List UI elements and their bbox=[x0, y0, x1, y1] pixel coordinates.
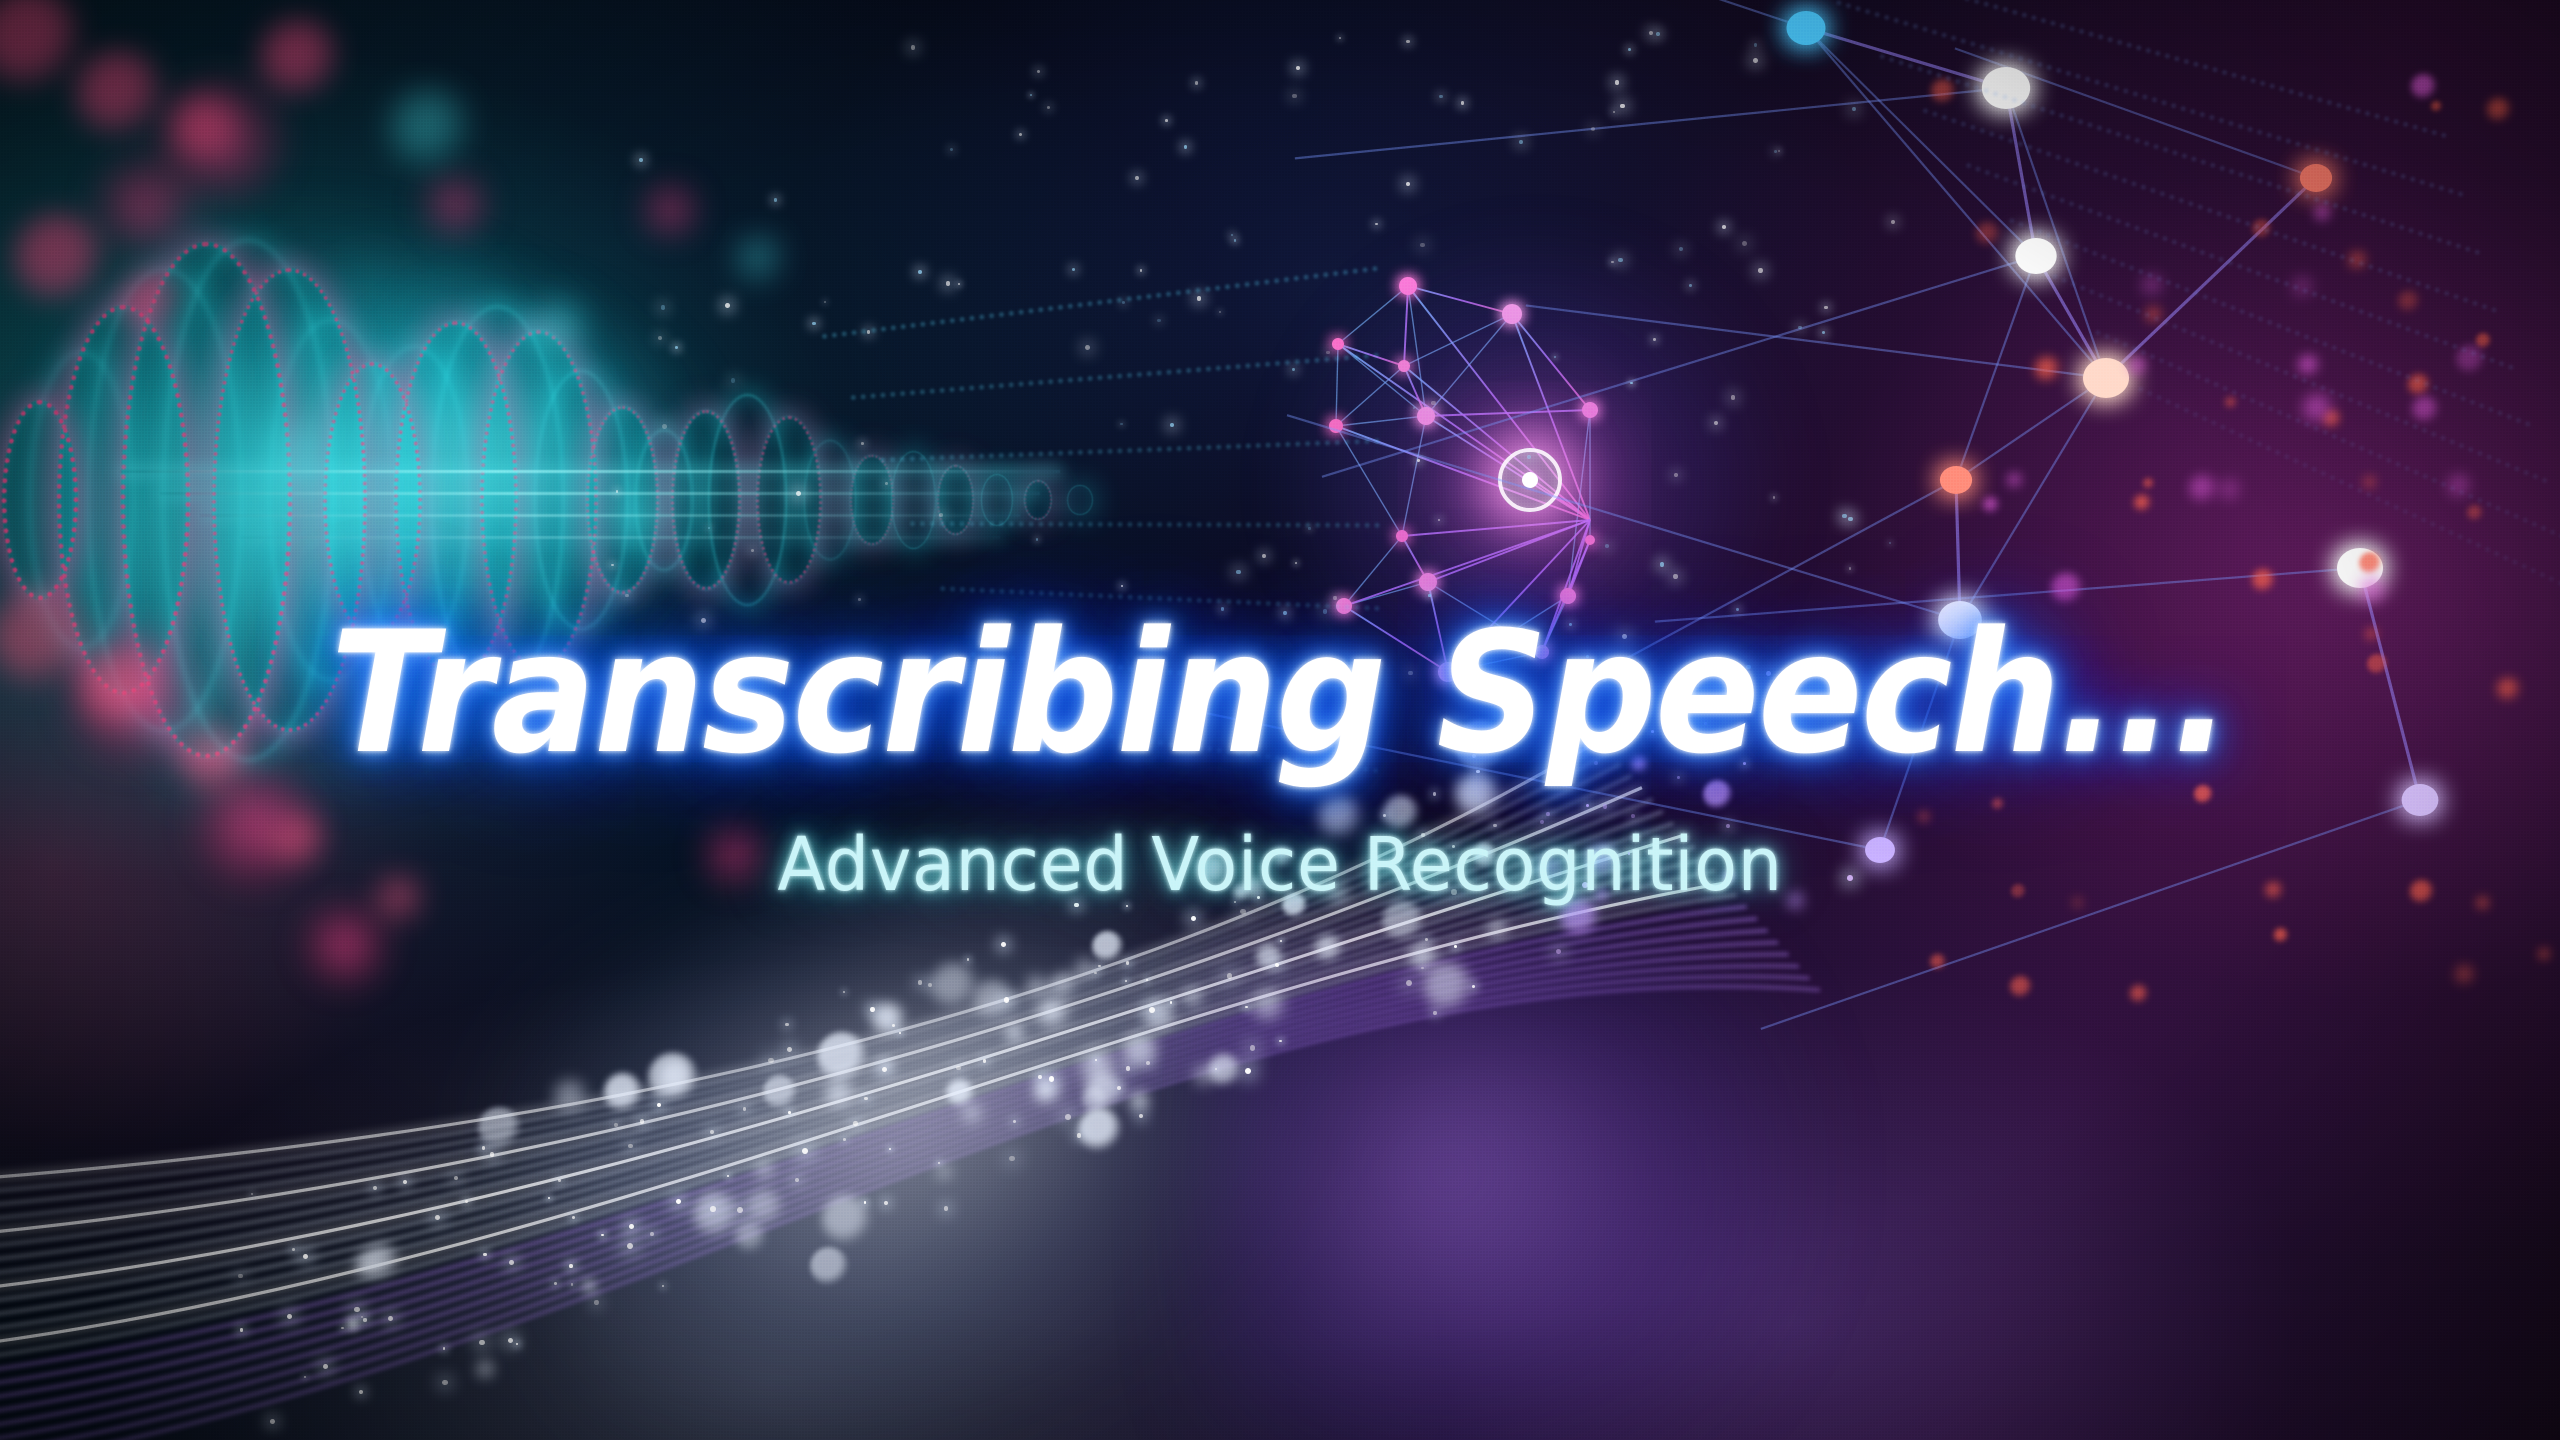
headline-block: Transcribing Speech... Advanced Voice Re… bbox=[0, 0, 2560, 1440]
page-subtitle: Advanced Voice Recognition bbox=[64, 822, 2496, 908]
page-title: Transcribing Speech... bbox=[102, 608, 2457, 779]
splash-screen: Transcribing Speech... Advanced Voice Re… bbox=[0, 0, 2560, 1440]
